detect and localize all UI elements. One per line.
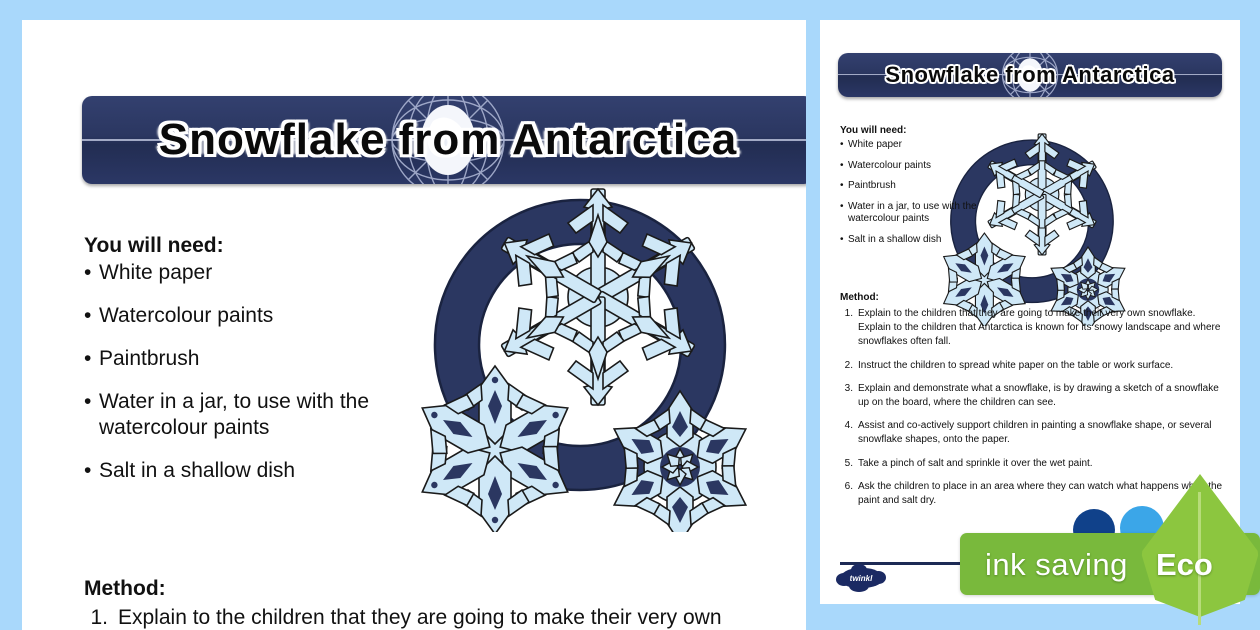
title-banner-small: Snowflake from Antarctica [838, 53, 1222, 97]
document-page-preview-large[interactable]: Snowflake from Antarctica [22, 20, 806, 630]
list-item: Salt in a shallow dish [840, 234, 1000, 247]
method-heading-large: Method: [84, 577, 166, 601]
twinkl-logo[interactable]: twinkl [840, 568, 882, 588]
screenshot-canvas: Snowflake from Antarctica [0, 0, 1260, 630]
ink-saving-label: ink saving [985, 542, 1145, 587]
list-item: Paintbrush [840, 180, 1000, 193]
list-item: White paper [84, 260, 414, 286]
list-item: Water in a jar, to use with the watercol… [840, 201, 1000, 226]
method-steps-large: Explain to the children that they are go… [84, 603, 800, 630]
list-item: Explain and demonstrate what a snowflake… [840, 382, 1224, 410]
materials-list-small: White paper Watercolour paints Paintbrus… [840, 139, 1000, 254]
list-item: Paintbrush [84, 346, 414, 372]
list-item: Watercolour paints [84, 303, 414, 329]
materials-list-large: White paper Watercolour paints Paintbrus… [84, 260, 414, 501]
you-will-need-heading-large: You will need: [84, 234, 224, 258]
list-item: Salt in a shallow dish [84, 458, 414, 484]
list-item: Assist and co-actively support children … [840, 419, 1224, 447]
list-item: White paper [840, 139, 1000, 152]
list-item: Water in a jar, to use with the watercol… [84, 389, 414, 441]
list-item: Explain to the children that they are go… [84, 603, 800, 630]
list-item: Watercolour paints [840, 160, 1000, 173]
method-heading-small: Method: [840, 292, 879, 303]
page-title-small: Snowflake from Antarctica [838, 53, 1222, 97]
page-title: Snowflake from Antarctica [82, 96, 806, 184]
twinkl-logo-text: twinkl [840, 568, 882, 588]
list-item: Take a pinch of salt and sprinkle it ove… [840, 457, 1224, 471]
list-item: Instruct the children to spread white pa… [840, 359, 1224, 373]
you-will-need-heading-small: You will need: [840, 125, 906, 136]
title-banner-large: Snowflake from Antarctica [82, 96, 806, 184]
eco-label: Eco [1156, 542, 1256, 587]
list-item: Explain to the children that they are go… [840, 307, 1224, 350]
snowflake-illustration-large [380, 182, 780, 532]
snowflake-bottom-left [405, 366, 584, 532]
